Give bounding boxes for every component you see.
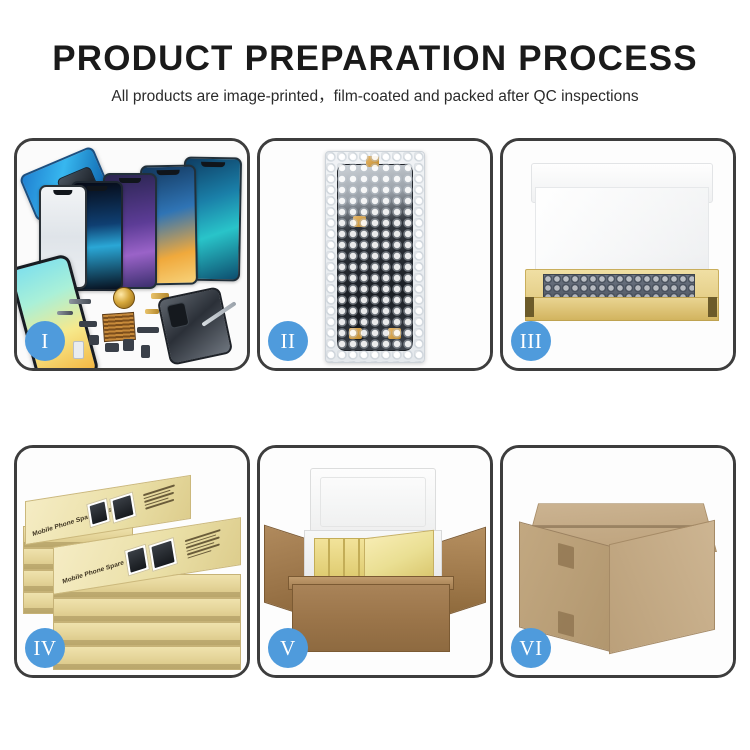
spare-part [141,345,150,358]
stacked-box [53,598,241,622]
box-edge [54,664,240,669]
box-corner-tab [525,297,534,317]
process-steps-grid: I II [14,138,736,678]
step-panel-4: Mobile Phone Spare Parts [14,445,250,678]
step-badge-6: VI [511,628,551,668]
chip-board-part [102,312,136,342]
spare-part [123,339,134,351]
notch-icon [119,178,141,183]
step-panel-2: II [257,138,493,371]
step-badge-1: I [25,321,65,361]
spare-part [57,311,73,315]
notch-icon [53,190,72,195]
carton-tape [558,543,574,569]
carton-tape [558,611,574,637]
step-panel-1: I [14,138,250,371]
spare-part [105,343,119,352]
page-subtitle: All products are image-printed，film-coat… [0,87,750,107]
step-badge-3: III [511,321,551,361]
box-label-screen-image [148,537,178,572]
stacked-box [53,622,241,646]
gold-coil-part [113,287,135,309]
notch-icon [201,162,225,167]
spare-part [137,327,159,333]
step-badge-4: IV [25,628,65,668]
box-edge [54,592,240,597]
spare-part [73,341,84,359]
step-panel-3: III [500,138,736,371]
camera-module-icon [166,302,190,329]
notch-icon [86,186,107,191]
box-edge [54,640,240,645]
carton-right-face [609,520,715,654]
phone-back-cover [157,286,234,366]
page-title: PRODUCT PREPARATION PROCESS [0,38,750,80]
box-label-spec-lines [143,483,181,509]
screen-thumb [90,502,108,525]
notch-icon [157,170,180,175]
box-label-screen-image [86,498,111,529]
screen-thumb [151,541,174,568]
foam-box-lid [310,468,436,536]
step-panel-5: V [257,445,493,678]
product-preparation-infographic: PRODUCT PREPARATION PROCESS All products… [0,0,750,750]
bubble-texture [326,152,424,362]
bubble-wrap-bag [325,151,425,363]
carton-front-panel [292,584,450,652]
spare-part [145,309,159,314]
screen-thumb [127,547,146,572]
box-corner-tab [708,297,717,317]
spare-part [89,335,99,345]
box-label-spec-lines [185,528,227,559]
step-panel-6: VI [500,445,736,678]
step-badge-5: V [268,628,308,668]
box-label-screen-image [109,491,137,524]
spare-part [69,299,91,304]
header: PRODUCT PREPARATION PROCESS All products… [0,38,750,107]
box-label-screen-image [124,544,150,577]
kraft-box-front [525,297,719,321]
screen-thumb [113,495,134,520]
box-edge [54,616,240,621]
spare-part [79,321,97,327]
stacked-box [53,646,241,670]
step-badge-2: II [268,321,308,361]
